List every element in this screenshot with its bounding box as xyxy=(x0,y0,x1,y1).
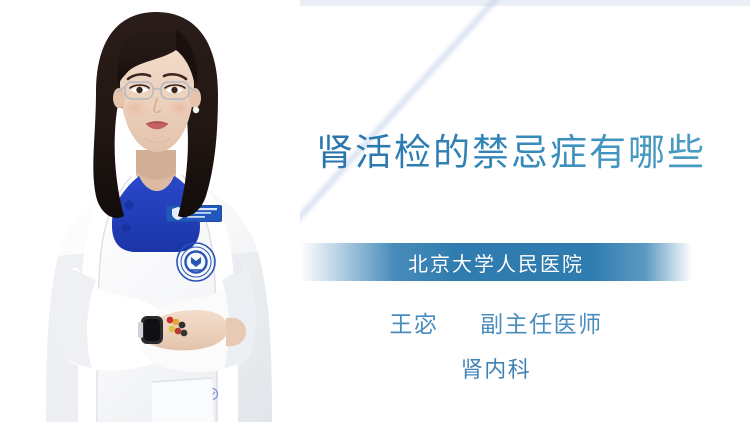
page-title: 肾活检的禁忌症有哪些 xyxy=(316,128,706,178)
hospital-name: 北京大学人民医院 xyxy=(408,248,584,277)
doctor-department: 肾内科 xyxy=(300,352,692,384)
doctor-info-row: 王宓 副主任医师 xyxy=(300,305,692,339)
video-thumbnail: 肾活检的禁忌症有哪些 北京大学人民医院 王宓 副主任医师 肾内科 xyxy=(0,0,750,422)
doctor-name: 王宓 xyxy=(389,311,438,337)
hospital-banner: 北京大学人民医院 xyxy=(300,243,692,281)
doctor-rank: 副主任医师 xyxy=(480,311,603,337)
doctor-photo xyxy=(0,0,300,422)
